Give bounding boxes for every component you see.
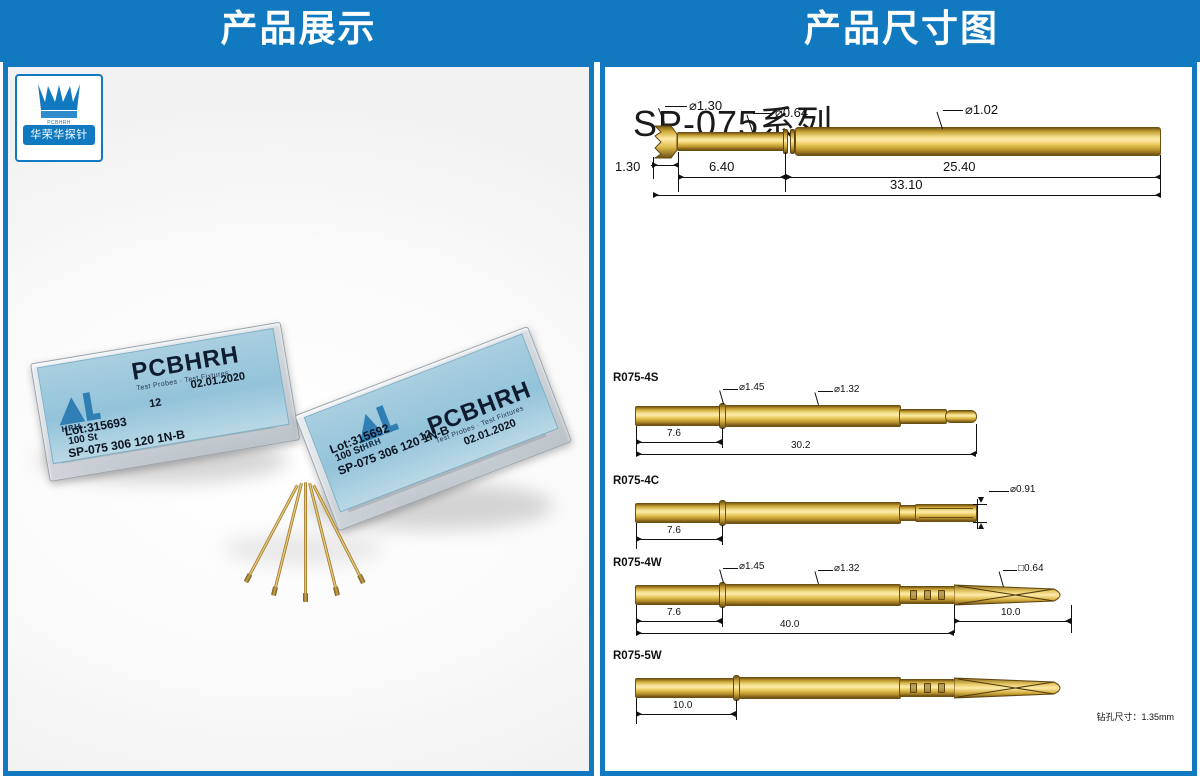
variant-drawing-r075-4s: R075-4S ⌀1.45 ⌀1.32 7.6 — [605, 372, 1192, 467]
dim-arrow — [636, 536, 642, 542]
callout-tube-dia: ⌀1.32 — [834, 563, 859, 574]
leader-line — [723, 389, 738, 390]
variant-tube — [635, 406, 721, 426]
dim-arrow — [970, 451, 976, 457]
dim-arrow — [678, 174, 684, 180]
dim-ext-line — [736, 700, 737, 720]
dim-ext-line — [976, 424, 977, 454]
callout-head-dia: ⌀1.30 — [689, 98, 722, 114]
dim-arrow — [636, 711, 642, 717]
dim-arrow — [636, 439, 642, 445]
product-photo-panel: HRH PCBHRH Test Probes · Test Fixtures L… — [3, 62, 594, 776]
dim-c: 10.0 — [1001, 607, 1020, 618]
dim-ext-line — [1160, 155, 1161, 193]
logo-mark-caption: PCBHRH — [47, 120, 71, 126]
leader-line — [746, 115, 753, 132]
variant-body — [725, 584, 901, 606]
dim-line — [636, 454, 976, 455]
wire-wrap-tail — [954, 584, 1072, 606]
leader-line — [723, 568, 738, 569]
connector-slot — [910, 590, 917, 600]
dim-ext-line — [1071, 605, 1072, 633]
dim-line — [678, 177, 786, 178]
variant-tube — [635, 503, 721, 523]
dim-arrow — [978, 497, 984, 503]
sleeve-seam — [919, 508, 973, 509]
dim-arrow — [948, 630, 954, 636]
main-probe-drawing: ⌀1.30 ⌀0.64 ⌀1.02 1.30 6.40 — [605, 67, 1192, 317]
dim-line — [653, 195, 1161, 196]
variant-drawing-r075-4c: R075-4C ⌀0.91 7.6 — [605, 475, 1192, 565]
dim-line — [636, 621, 722, 622]
crown-tip-icon — [653, 124, 679, 165]
variant-name: R075-4S — [613, 372, 658, 384]
variant-name: R075-4C — [613, 475, 659, 487]
loose-probe — [308, 483, 338, 590]
dim-ext-line — [722, 428, 723, 448]
dim-ext-line — [785, 152, 786, 192]
connector-slot — [924, 590, 931, 600]
product-sheet: 产品展示 产品尺寸图 — [0, 0, 1200, 779]
dim-line — [636, 539, 722, 540]
dim-line — [636, 633, 954, 634]
callout-flange-dia: ⌀1.45 — [739, 382, 764, 393]
connector-slot — [924, 683, 931, 693]
variant-name: R075-5W — [613, 650, 662, 662]
leader-line — [1003, 570, 1017, 571]
connector-slot — [938, 590, 945, 600]
dim-plunger-len: 6.40 — [709, 159, 734, 174]
connector-slot — [938, 683, 945, 693]
dim-arrow — [636, 618, 642, 624]
dim-ext-line — [653, 157, 654, 179]
dim-ext-line — [722, 607, 723, 627]
variant-tube — [635, 585, 721, 605]
wire-wrap-tail — [954, 677, 1072, 699]
variant-sleeve — [915, 504, 977, 522]
leader-line — [814, 571, 819, 584]
drilling-size-note: 钻孔尺寸：1.35mm — [1096, 710, 1174, 723]
dim-ext-line — [722, 525, 723, 545]
dim-arrow — [1065, 618, 1071, 624]
dim-arrow — [716, 439, 722, 445]
dim-arrow — [636, 630, 642, 636]
dim-ext-line — [678, 152, 679, 192]
dim-line — [954, 621, 1071, 622]
variant-drawing-r075-4w: R075-4W — [605, 557, 1192, 657]
dim-a: 7.6 — [667, 607, 681, 618]
callout-barrel-dia: ⌀1.02 — [965, 102, 998, 118]
variant-end — [945, 410, 977, 423]
leader-line — [814, 392, 819, 405]
dim-arrow — [1155, 192, 1161, 198]
leader-line — [719, 569, 724, 583]
leader-line — [818, 570, 833, 571]
dim-arrow — [653, 192, 659, 198]
leader-line — [943, 110, 963, 111]
crown-icon — [32, 80, 86, 122]
dim-arrow — [716, 536, 722, 542]
leader-line — [658, 108, 665, 123]
loose-probes-group — [8, 67, 589, 771]
variant-body — [725, 405, 901, 427]
dim-b: 40.0 — [780, 619, 799, 630]
dim-line — [973, 522, 987, 523]
dim-arrow — [978, 523, 984, 529]
company-logo: PCBHRH 华荣华探针 — [15, 74, 103, 162]
connector-slot — [910, 683, 917, 693]
leader-line — [818, 391, 833, 392]
leader-line — [753, 113, 773, 114]
barrel-ring — [783, 129, 788, 154]
leader-line — [719, 390, 724, 404]
variant-body — [739, 677, 901, 699]
dim-head-height: 1.30 — [615, 159, 640, 174]
dim-total-len: 33.10 — [890, 177, 923, 192]
dim-line — [636, 714, 736, 715]
dim-arrow — [954, 618, 960, 624]
sleeve-seam — [919, 517, 973, 518]
callout-wrap-size: □0.64 — [1018, 563, 1044, 574]
dim-a: 7.6 — [667, 525, 681, 536]
dim-a: 10.0 — [673, 700, 692, 711]
variant-drawing-r075-5w: R075-5W — [605, 650, 1192, 750]
dim-line — [636, 442, 722, 443]
dimension-drawing-panel: SP-075系列 — [600, 62, 1197, 776]
callout-end-dia: ⌀0.91 — [1010, 484, 1035, 495]
product-photo: HRH PCBHRH Test Probes · Test Fixtures L… — [8, 67, 589, 771]
dim-arrow — [786, 174, 792, 180]
variant-body — [725, 502, 901, 524]
dim-line — [973, 504, 987, 505]
callout-flange-dia: ⌀1.45 — [739, 561, 764, 572]
plunger-body — [677, 132, 785, 151]
dim-line — [786, 177, 1161, 178]
dim-arrow — [636, 451, 642, 457]
callout-tube-dia: ⌀1.32 — [834, 384, 859, 395]
leader-line — [989, 491, 1009, 492]
leader-line — [665, 106, 687, 107]
dim-b: 30.2 — [791, 440, 810, 451]
dim-arrow — [730, 711, 736, 717]
dim-a: 7.6 — [667, 428, 681, 439]
dim-barrel-len: 25.40 — [943, 159, 976, 174]
variant-tube — [635, 678, 735, 698]
dim-arrow — [716, 618, 722, 624]
barrel-body — [795, 127, 1161, 156]
callout-plunger-dia: ⌀0.64 — [775, 105, 808, 121]
variant-neck — [899, 409, 947, 424]
logo-brand-text: 华荣华探针 — [23, 125, 95, 145]
variant-name: R075-4W — [613, 557, 662, 569]
header-title-right: 产品尺寸图 — [603, 0, 1200, 62]
loose-probe — [304, 482, 307, 596]
header-title-left: 产品展示 — [0, 0, 597, 62]
